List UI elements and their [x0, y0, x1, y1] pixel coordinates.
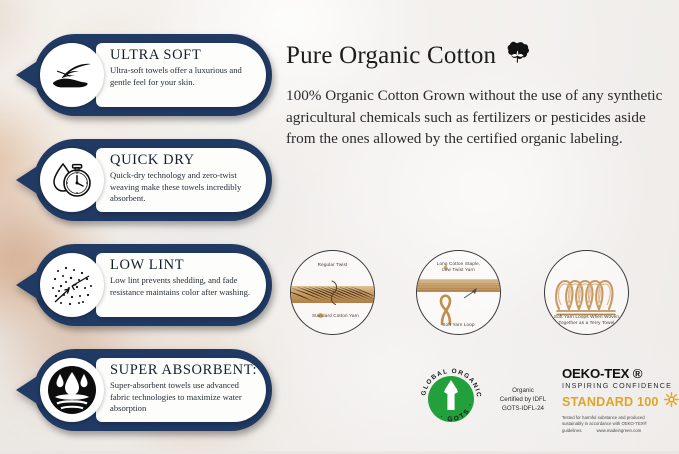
yarn-diagram-regular-twist: Regular Twist Standard Cotton Yarn — [290, 250, 375, 335]
pill-tail — [16, 58, 42, 92]
feature-item-low-lint[interactable]: LOW LINT Low lint prevents shedding, and… — [16, 244, 274, 326]
oeko-tex-title: OEKO-TEX ® — [562, 366, 674, 381]
fineprint-line-3: guidelines. — [562, 428, 583, 434]
yarn-bottom-label: Standard Cotton Yarn — [291, 313, 374, 319]
feature-title: QUICK DRY — [110, 153, 254, 168]
main-content: Pure Organic Cotton 100% Organic Cotton … — [286, 40, 666, 150]
pill-text-card: QUICK DRY Quick-dry technology and zero-… — [96, 148, 266, 212]
pill-text-card: LOW LINT Low lint prevents shedding, and… — [96, 253, 266, 317]
yarn-bottom-label: Soft Yarn Loops When Woven Together as a… — [545, 314, 628, 326]
pill-text-card: ULTRA SOFT Ultra-soft towels offer a lux… — [96, 43, 266, 107]
yarn-diagram-low-twist: Long Cotton Staple, Low Twist Yarn Soft … — [416, 250, 501, 335]
oeko-tex-fineprint: Tested for harmful substance and produce… — [562, 415, 674, 434]
feature-description: Super-absorbent towels use advanced fabr… — [110, 380, 254, 414]
water-absorb-icon — [40, 358, 104, 422]
sun-burst-icon — [664, 392, 679, 412]
feature-description: Low lint prevents shedding, and fade res… — [110, 275, 254, 298]
hand-feather-icon — [40, 43, 104, 107]
gots-logo: GLOBAL ORGANIC TEXTILE STANDARD · GOTS · — [416, 364, 486, 434]
feature-description: Ultra-soft towels offer a luxurious and … — [110, 65, 254, 88]
feature-item-quick-dry[interactable]: QUICK DRY Quick-dry technology and zero-… — [16, 139, 274, 221]
pill-tail — [16, 268, 42, 302]
pill-tail — [16, 373, 42, 407]
page-title: Pure Organic Cotton — [286, 40, 666, 72]
stopwatch-droplet-icon — [40, 148, 104, 212]
madeingreen-url[interactable]: www.madeingreen.com — [597, 428, 642, 434]
cotton-boll-icon — [505, 40, 530, 72]
yarn-top-label: Long Cotton Staple, Low Twist Yarn — [417, 261, 500, 273]
yarn-bottom-label: Soft Yarn Loop — [417, 322, 500, 328]
oeko-tex-logo: OEKO-TEX ® INSPIRING CONFIDENCE STANDARD… — [562, 366, 674, 434]
feature-item-ultra-soft[interactable]: ULTRA SOFT Ultra-soft towels offer a lux… — [16, 34, 274, 116]
yarn-diagram-group: Regular Twist Standard Cotton Yarn — [282, 250, 672, 340]
feature-title: ULTRA SOFT — [110, 48, 254, 63]
oeko-tex-subtitle: INSPIRING CONFIDENCE — [562, 382, 674, 390]
yarn-diagram-terry-loops: Soft Yarn Loops When Woven Together as a… — [544, 250, 629, 335]
pill-tail — [16, 163, 42, 197]
feature-title: LOW LINT — [110, 258, 254, 273]
yarn-top-label: Regular Twist — [291, 262, 374, 268]
feature-list: ULTRA SOFT Ultra-soft towels offer a lux… — [16, 34, 274, 454]
body-paragraph: 100% Organic Cotton Grown without the us… — [286, 85, 666, 150]
feature-item-super-absorbent[interactable]: SUPER ABSORBENT: Super-absorbent towels … — [16, 349, 274, 431]
gots-caption: Organic Certified by IDFL GOTS-IDFL-24 — [492, 387, 554, 414]
feature-description: Quick-dry technology and zero-twist weav… — [110, 170, 254, 204]
lint-particles-icon — [40, 253, 104, 317]
pill-text-card: SUPER ABSORBENT: Super-absorbent towels … — [96, 358, 266, 422]
feature-title: SUPER ABSORBENT: — [110, 363, 254, 378]
page-title-text: Pure Organic Cotton — [286, 42, 496, 70]
certification-group: GLOBAL ORGANIC TEXTILE STANDARD · GOTS ·… — [416, 362, 674, 446]
oeko-tex-standard: STANDARD 100 — [562, 395, 659, 409]
